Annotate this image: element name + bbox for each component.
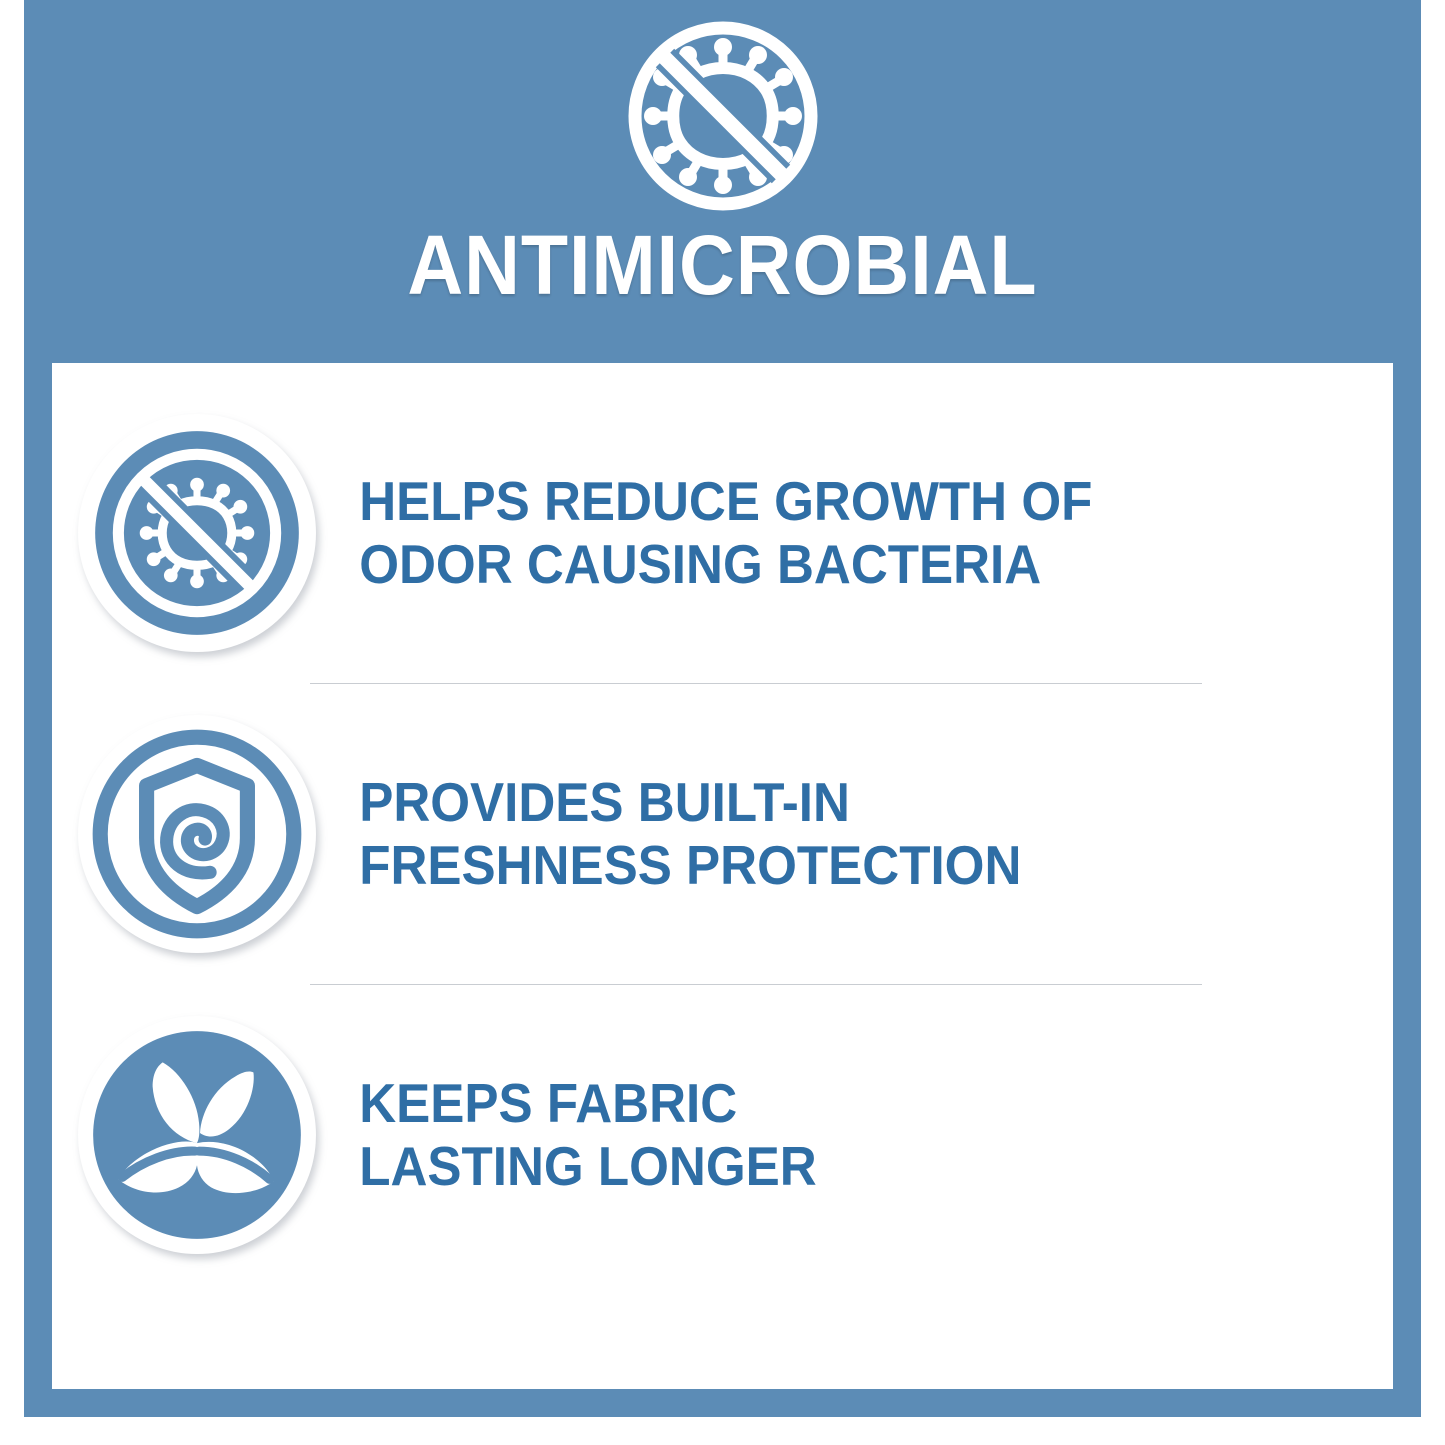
feature-text: KEEPS FABRIC LASTING LONGER [322,1072,1318,1198]
no-virus-icon [623,16,823,216]
feature-icon-container [72,1010,322,1260]
feature-text-line-1: KEEPS FABRIC [359,1072,1318,1135]
feature-row-antimicrobial: HELPS REDUCE GROWTH OF ODOR CAUSING BACT… [52,383,1393,683]
feature-text: PROVIDES BUILT-IN FRESHNESS PROTECTION [322,771,1318,897]
feature-text: HELPS REDUCE GROWTH OF ODOR CAUSING BACT… [322,470,1318,596]
header-band: ANTIMICROBIAL [24,0,1421,363]
features-panel: HELPS REDUCE GROWTH OF ODOR CAUSING BACT… [52,363,1393,1389]
feature-text-line-1: PROVIDES BUILT-IN [359,771,1318,834]
feature-icon-container [72,408,322,658]
leaf-sprout-icon [76,1014,318,1256]
blue-frame: ANTIMICROBIAL [24,0,1421,1417]
feature-list: HELPS REDUCE GROWTH OF ODOR CAUSING BACT… [52,363,1393,1389]
feature-text-line-2: ODOR CAUSING BACTERIA [359,533,1318,596]
no-virus-icon [76,412,318,654]
feature-text-line-1: HELPS REDUCE GROWTH OF [359,470,1318,533]
feature-text-line-2: LASTING LONGER [359,1135,1318,1198]
feature-text-line-2: FRESHNESS PROTECTION [359,834,1318,897]
antimicrobial-infographic: ANTIMICROBIAL [0,0,1445,1445]
shield-spiral-icon [76,713,318,955]
feature-row-fabric: KEEPS FABRIC LASTING LONGER [52,985,1393,1285]
feature-row-freshness: PROVIDES BUILT-IN FRESHNESS PROTECTION [52,684,1393,984]
feature-icon-container [72,709,322,959]
page-title: ANTIMICROBIAL [407,222,1037,308]
